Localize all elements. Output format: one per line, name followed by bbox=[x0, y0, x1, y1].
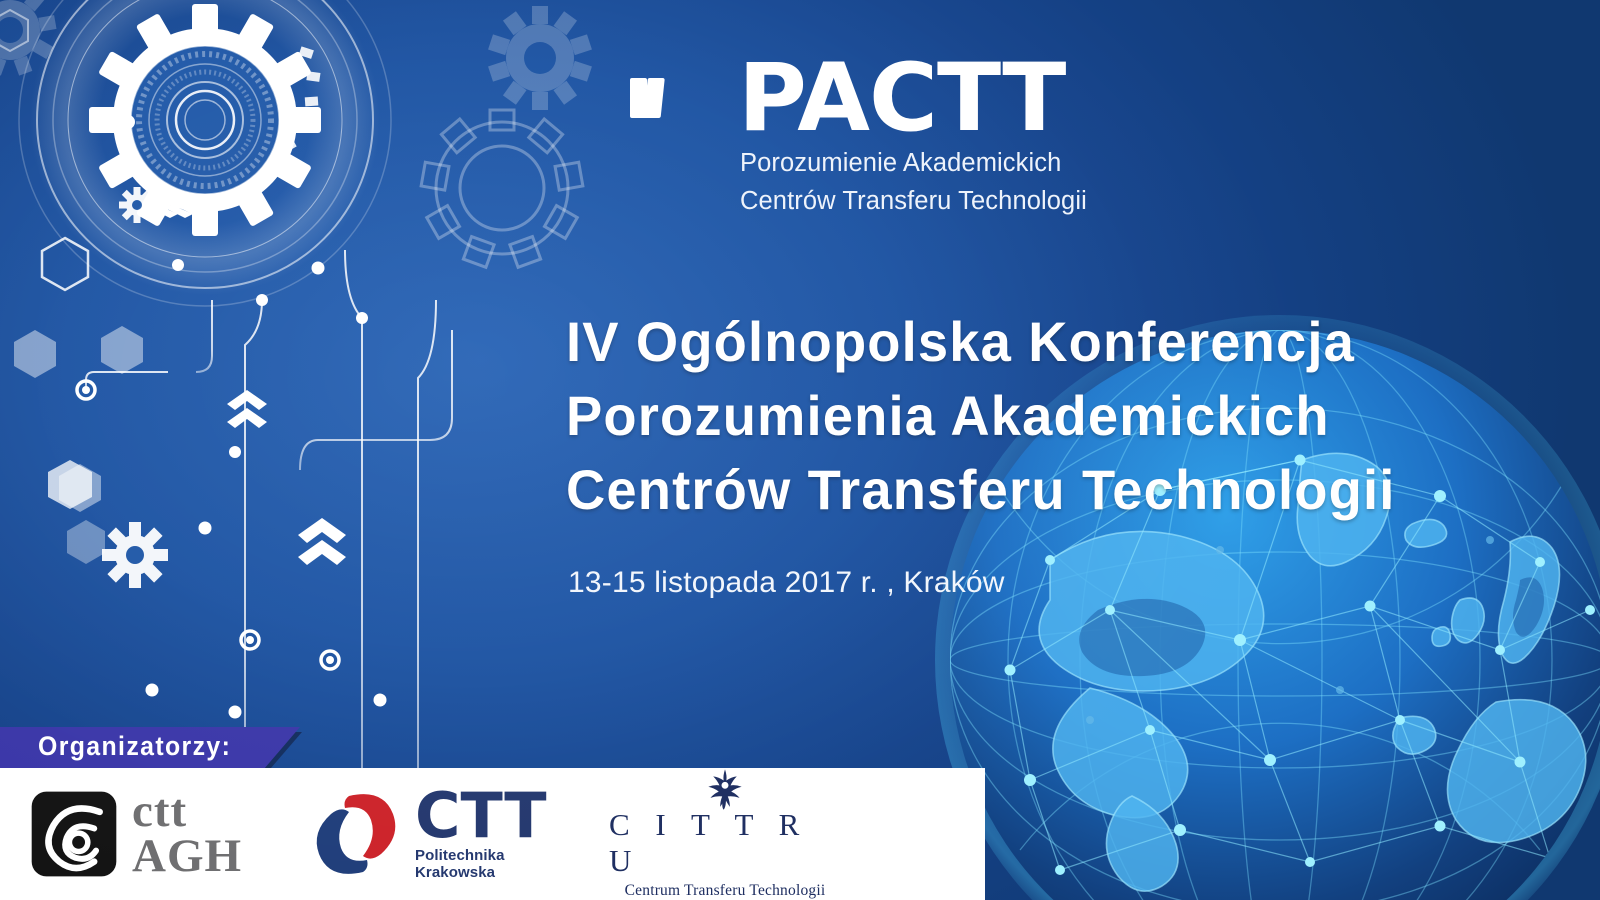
agh-wordmark: ctt AGH bbox=[132, 789, 242, 879]
logo-cittru[interactable]: C I T T R U Centrum Transferu Technologi… bbox=[600, 768, 850, 900]
conference-banner: PACTT Porozumienie Akademickich Centrów … bbox=[0, 0, 1600, 900]
pk-subtitle: Politechnika Krakowska bbox=[415, 847, 560, 881]
pk-swirl-icon bbox=[305, 786, 407, 882]
agh-line-1: ctt bbox=[132, 789, 242, 834]
pactt-subtitle-line1: Porozumienie Akademickich bbox=[740, 148, 1168, 179]
tech-gears-graphic bbox=[330, 0, 710, 330]
agh-line-2: AGH bbox=[132, 834, 242, 879]
logo-ctt-agh[interactable]: ctt AGH bbox=[28, 768, 268, 900]
event-title-block: IV Ogólnopolska Konferencja Porozumienia… bbox=[566, 305, 1526, 527]
event-title-line-2: Porozumienia Akademickich bbox=[566, 379, 1497, 453]
cittru-subtitle: Centrum Transferu Technologii bbox=[625, 882, 826, 900]
tech-circuit-graphic bbox=[0, 0, 520, 780]
cittru-acronym: C I T T R U bbox=[600, 807, 850, 879]
logo-ctt-politechnika-krakowska[interactable]: CTT Politechnika Krakowska bbox=[305, 768, 560, 900]
event-title-line-1: IV Ogólnopolska Konferencja bbox=[566, 305, 1497, 379]
pk-wordmark: CTT Politechnika Krakowska bbox=[415, 787, 560, 881]
organizers-ribbon: Organizatorzy: bbox=[0, 727, 300, 769]
cittru-star-icon bbox=[693, 768, 757, 811]
pactt-subtitle-line2: Centrów Transferu Technologii bbox=[740, 186, 1168, 217]
tech-gear-corner bbox=[0, 0, 110, 130]
pactt-logo-block: PACTT Porozumienie Akademickich Centrów … bbox=[738, 56, 1168, 217]
pactt-acronym: PACTT bbox=[738, 56, 1168, 142]
tech-gear-faint bbox=[400, 0, 620, 200]
agh-spiral-icon bbox=[28, 788, 120, 880]
event-title-line-3: Centrów Transferu Technologii bbox=[566, 453, 1497, 527]
event-date-location: 13-15 listopada 2017 r. , Kraków bbox=[568, 566, 1005, 600]
organizer-logos: ctt AGH CTT Politechnika Krakowska bbox=[0, 768, 985, 900]
pk-acronym: CTT bbox=[415, 787, 547, 844]
organizers-label: Organizatorzy: bbox=[38, 731, 231, 762]
